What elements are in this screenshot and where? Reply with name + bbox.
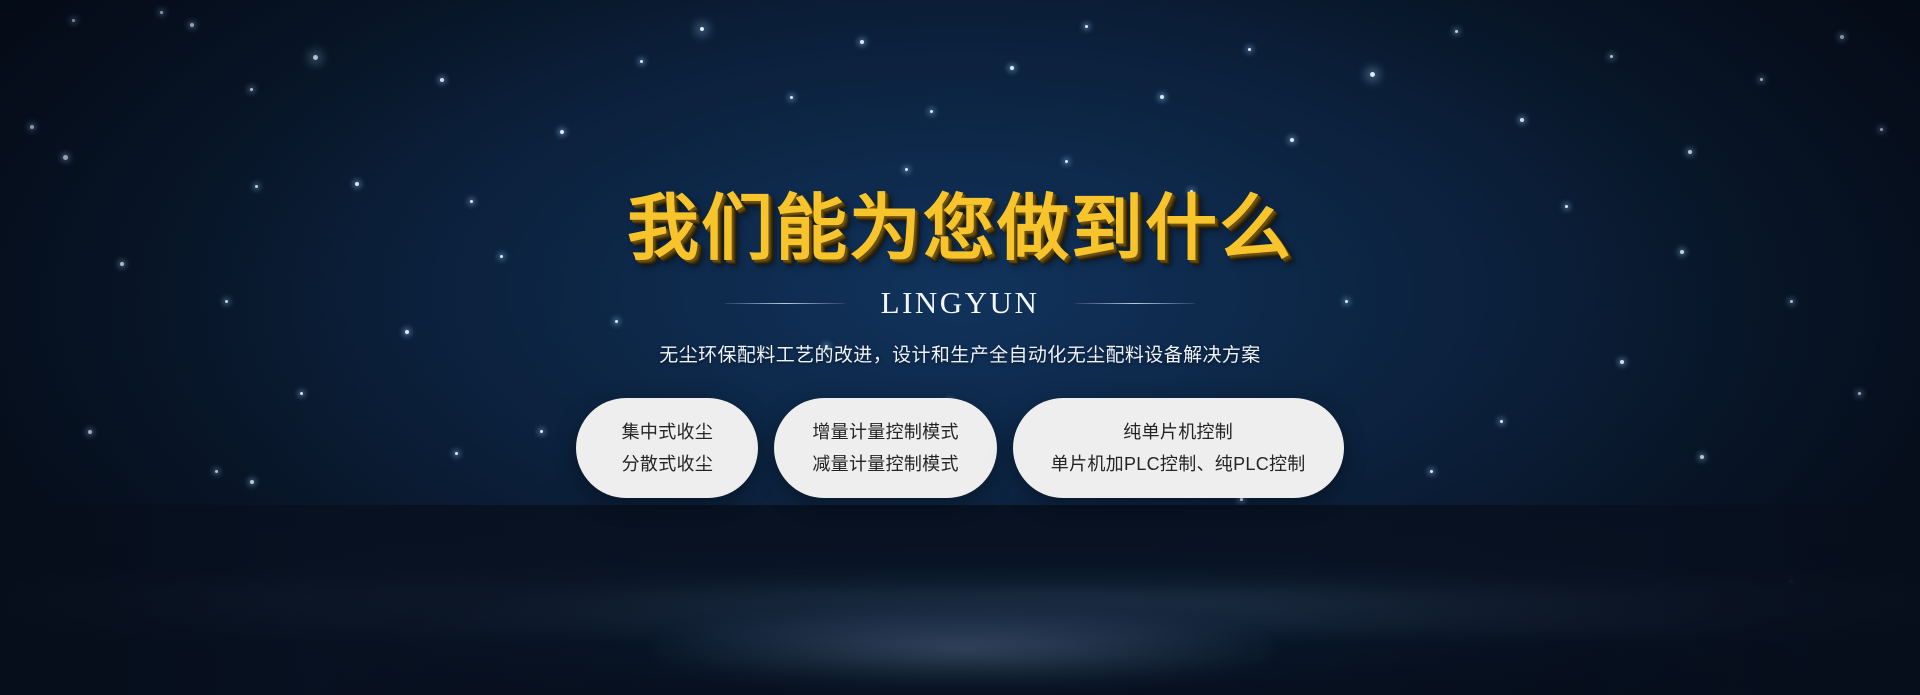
digital-wave-mesh [0,505,1920,695]
pill-line-primary: 纯单片机控制 [1123,421,1233,443]
pill-line-primary: 集中式收尘 [622,421,714,443]
star-particle [1240,498,1243,501]
pill-line-secondary: 分散式收尘 [622,453,714,475]
pill-line-primary: 增量计量控制模式 [812,421,958,443]
feature-pill-control-system[interactable]: 纯单片机控制 单片机加PLC控制、纯PLC控制 [1013,398,1344,498]
hero-content: 我们能为您做到什么 LINGYUN 无尘环保配料工艺的改进，设计和生产全自动化无… [0,0,1920,498]
hero-banner: 我们能为您做到什么 LINGYUN 无尘环保配料工艺的改进，设计和生产全自动化无… [0,0,1920,695]
feature-pill-metering-mode[interactable]: 增量计量控制模式 减量计量控制模式 [774,398,996,498]
brand-divider-left [725,303,845,304]
page-title: 我们能为您做到什么 [0,186,1920,270]
page-subtitle: 无尘环保配料工艺的改进，设计和生产全自动化无尘配料设备解决方案 [0,342,1920,370]
brand-name: LINGYUN [881,284,1040,322]
feature-pill-dust-collection[interactable]: 集中式收尘 分散式收尘 [576,398,758,498]
feature-pill-group: 集中式收尘 分散式收尘 增量计量控制模式 减量计量控制模式 纯单片机控制 单片机… [0,398,1920,498]
brand-divider-right [1075,303,1195,304]
brand-row: LINGYUN [0,284,1920,322]
mesh-side-fade [0,505,1920,695]
pill-line-secondary: 减量计量控制模式 [812,453,958,475]
pill-line-secondary: 单片机加PLC控制、纯PLC控制 [1051,453,1306,475]
